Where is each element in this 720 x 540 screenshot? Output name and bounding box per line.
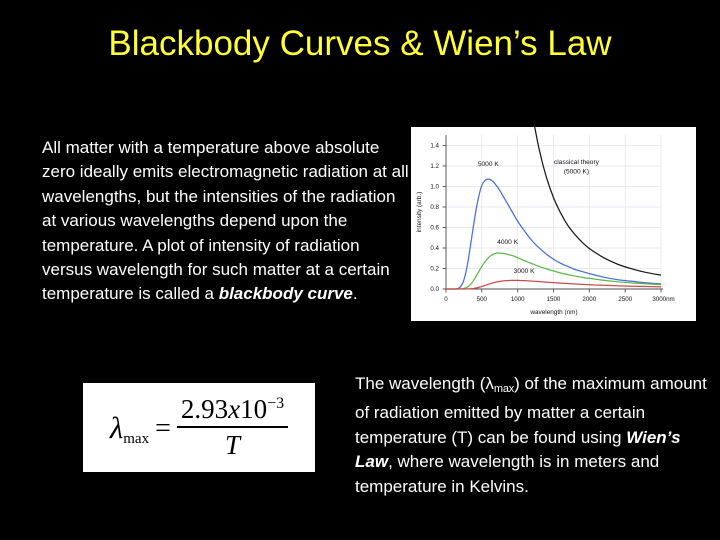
intro-paragraph-text: All matter with a temperature above abso… (42, 138, 409, 303)
blackbody-curves-chart: 0.0 0.2 0.4 0.6 0.8 1.0 1.2 1.4 0 (411, 127, 696, 321)
svg-text:3000nm: 3000nm (652, 296, 674, 303)
annotation-5000k: 5000 K (478, 161, 500, 168)
svg-text:2000: 2000 (582, 296, 596, 303)
svg-text:1.4: 1.4 (430, 143, 439, 150)
wiens-law-equation: λmax = 2.93x10−3 T (83, 383, 315, 472)
svg-text:1000: 1000 (511, 296, 525, 303)
svg-text:500: 500 (477, 296, 488, 303)
lambda-max-subscript: max (494, 383, 514, 395)
svg-text:1500: 1500 (547, 296, 561, 303)
svg-text:0.6: 0.6 (430, 225, 439, 232)
numerator-base: 10 (240, 394, 267, 424)
wiens-law-paragraph: The wavelength (λmax) of the maximum amo… (355, 372, 713, 499)
equals-sign: = (155, 415, 171, 443)
svg-text:0.8: 0.8 (430, 204, 439, 211)
wiens-law-text-1: The wavelength (λ (355, 374, 494, 393)
equation-denominator: T (225, 428, 240, 459)
slide-canvas: Blackbody Curves & Wien’s Law All matter… (0, 0, 720, 540)
annotation-classical-theory-temp: (5000 K) (564, 169, 589, 176)
equation-fraction: 2.93x10−3 T (177, 396, 288, 459)
lambda-symbol: λ (110, 410, 123, 445)
intro-paragraph: All matter with a temperature above abso… (42, 136, 414, 307)
numerator-value: 2.93 (181, 394, 228, 424)
annotation-classical-theory: classical theory (554, 159, 600, 166)
intro-paragraph-period: . (353, 284, 358, 303)
equation-numerator: 2.93x10−3 (177, 396, 288, 426)
page-title: Blackbody Curves & Wien’s Law (40, 22, 680, 65)
blackbody-curve-emphasis: blackbody curve (219, 284, 353, 303)
chart-xlabel: wavelength (nm) (529, 309, 577, 316)
lambda-subscript: max (123, 431, 149, 447)
numerator-x: x (228, 394, 240, 424)
svg-text:0: 0 (444, 296, 448, 303)
numerator-exponent: −3 (267, 395, 284, 412)
chart-ylabel: intensity (arb.) (416, 192, 423, 233)
annotation-4000k: 4000 K (497, 239, 519, 246)
svg-text:0.4: 0.4 (430, 245, 439, 252)
chart-svg: 0.0 0.2 0.4 0.6 0.8 1.0 1.2 1.4 0 (411, 127, 696, 321)
svg-text:1.0: 1.0 (430, 184, 439, 191)
wiens-law-text-3: , where wavelength is in meters and temp… (355, 452, 659, 495)
svg-text:1.2: 1.2 (430, 163, 439, 170)
annotation-3000k: 3000 K (514, 268, 536, 275)
equation-lhs: λmax (110, 412, 149, 447)
svg-text:0.2: 0.2 (430, 266, 439, 273)
svg-text:0.0: 0.0 (430, 286, 439, 293)
svg-text:2500: 2500 (618, 296, 632, 303)
